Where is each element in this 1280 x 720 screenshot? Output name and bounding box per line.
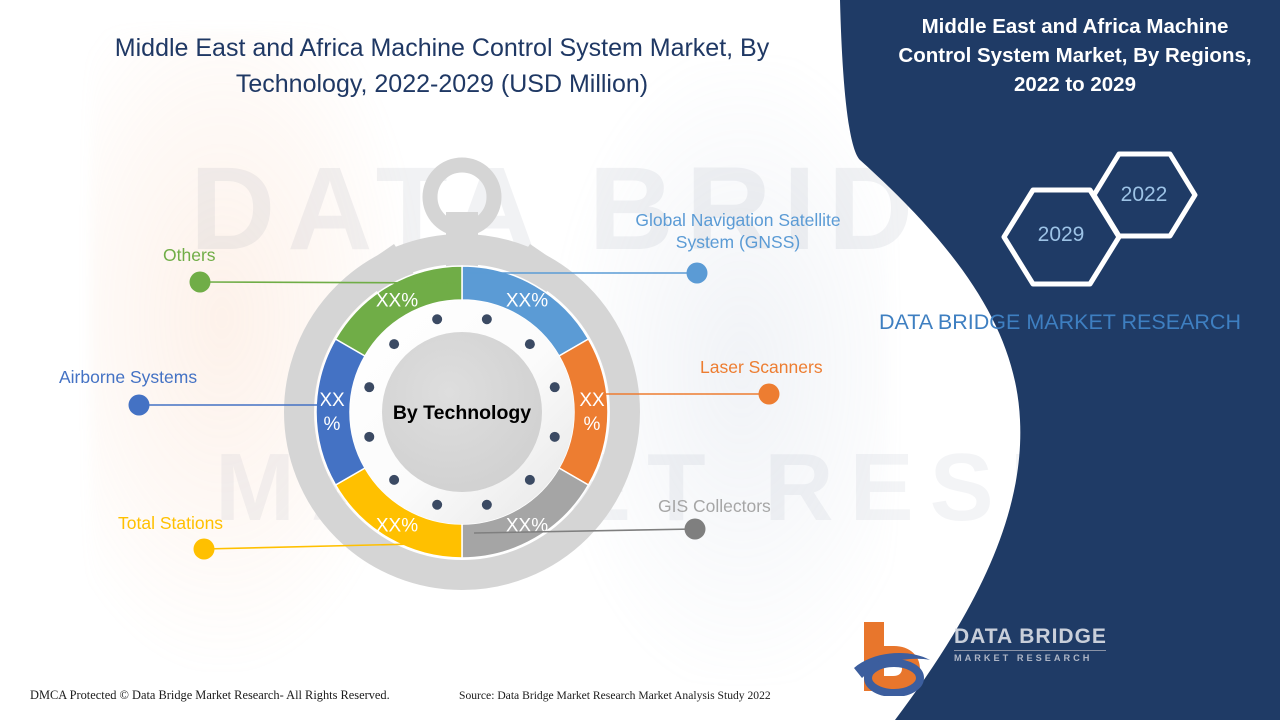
callout-label-others: Others xyxy=(163,245,216,266)
clock-dot-12 xyxy=(432,314,442,324)
data-bridge-logo: DATA BRIDGE MARKET RESEARCH xyxy=(850,616,1100,702)
footer-copyright: DMCA Protected © Data Bridge Market Rese… xyxy=(30,688,390,703)
logo-wordmark: DATA BRIDGE MARKET RESEARCH xyxy=(954,626,1114,663)
infographic-canvas: DATA BRIDGE MARKET RESEARCH Middle East … xyxy=(0,0,1280,720)
segment-value-3: XX% xyxy=(506,516,548,537)
page-title: Middle East and Africa Machine Control S… xyxy=(52,30,832,103)
segment-value-1: XX% xyxy=(506,290,548,311)
clock-dot-2 xyxy=(525,339,535,349)
leader-dot-total xyxy=(194,539,215,560)
clock-dot-11 xyxy=(389,339,399,349)
logo-main-text: DATA BRIDGE xyxy=(954,626,1114,647)
callout-label-gis-collectors: GIS Collectors xyxy=(658,496,771,517)
footer: DMCA Protected © Data Bridge Market Rese… xyxy=(0,678,860,720)
brand-name: DATA BRIDGE MARKET RESEARCH xyxy=(870,308,1250,338)
segment-value-4: XX% xyxy=(376,516,418,537)
chart-center-label: By Technology xyxy=(393,402,531,424)
logo-divider xyxy=(954,650,1106,651)
clock-dot-7 xyxy=(432,500,442,510)
callout-label-laser-scanners: Laser Scanners xyxy=(700,357,823,378)
segment-value-6: XX% xyxy=(376,290,418,311)
leader-dot-gnss xyxy=(687,263,708,284)
clock-dot-3 xyxy=(550,382,560,392)
leader-dot-laser xyxy=(759,384,780,405)
clock-dot-1 xyxy=(482,314,492,324)
clock-dot-4 xyxy=(550,432,560,442)
right-panel-title: Middle East and Africa Machine Control S… xyxy=(885,12,1265,99)
footer-source: Source: Data Bridge Market Research Mark… xyxy=(459,689,771,702)
clock-dot-9 xyxy=(364,432,374,442)
hexagon-label-2022: 2022 xyxy=(1104,183,1184,207)
logo-sub-text: MARKET RESEARCH xyxy=(954,654,1114,663)
callout-label-airborne-systems: Airborne Systems xyxy=(59,367,197,388)
logo-mark-icon xyxy=(850,616,946,696)
callout-label-total-stations: Total Stations xyxy=(118,513,223,534)
clock-dot-6 xyxy=(482,500,492,510)
hexagon-label-2029: 2029 xyxy=(1021,223,1101,247)
hexagon-group: 2029 2022 xyxy=(990,142,1230,292)
leader-dot-gis xyxy=(685,519,706,540)
leader-dot-others xyxy=(190,272,211,293)
right-panel-content: Middle East and Africa Machine Control S… xyxy=(840,0,1280,720)
clock-dot-10 xyxy=(364,382,374,392)
clock-dot-5 xyxy=(525,475,535,485)
leader-dot-airborne xyxy=(129,395,150,416)
clock-dot-8 xyxy=(389,475,399,485)
donut-chart: By Technology XX%XX%XX%XX%XX%XX% xyxy=(262,140,662,610)
callout-label-gnss: Global Navigation Satellite System (GNSS… xyxy=(604,209,872,254)
